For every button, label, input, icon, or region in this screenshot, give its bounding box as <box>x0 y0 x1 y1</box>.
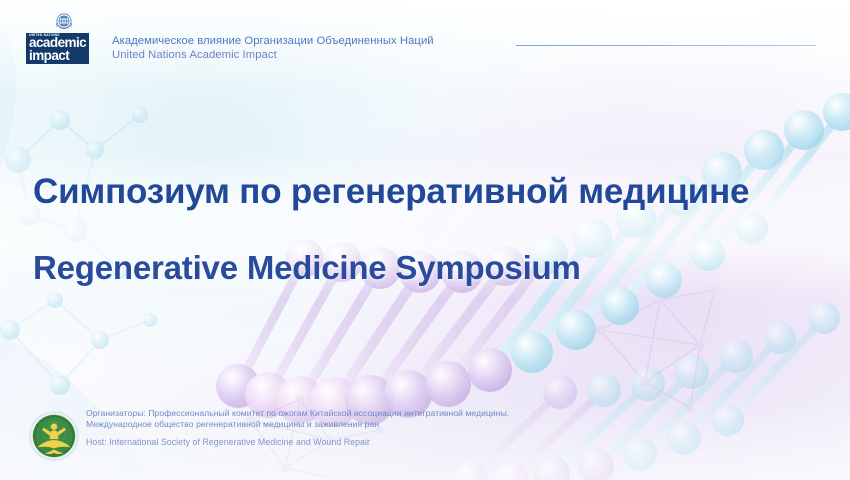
brand-header-text: Академическое влияние Организации Объеди… <box>106 8 434 62</box>
brand-title-ru: Академическое влияние Организации Объеди… <box>112 34 434 48</box>
brand-header: UNITED NATIONS academic impact Академиче… <box>26 8 826 78</box>
slide-title-ru: Симпозиум по регенеративной медицине <box>33 172 823 212</box>
academic-impact-logo: UNITED NATIONS academic impact <box>26 33 89 64</box>
footer-text-block: Организаторы: Профессиональный комитет п… <box>86 408 509 448</box>
slide-title-en: Regenerative Medicine Symposium <box>33 249 823 287</box>
footer-organizers-line2: Международное общество регенеративной ме… <box>86 419 509 430</box>
footer-organizers-line1: Организаторы: Профессиональный комитет п… <box>86 408 509 419</box>
logo-word-impact: impact <box>29 50 86 62</box>
slide-footer: Организаторы: Профессиональный комитет п… <box>28 404 828 466</box>
organization-seal-emblem <box>28 410 80 462</box>
header-divider-rule <box>516 45 816 46</box>
footer-host-line: Host: International Society of Regenerat… <box>86 437 509 448</box>
brand-title-en: United Nations Academic Impact <box>112 48 434 62</box>
presentation-slide: UNITED NATIONS academic impact Академиче… <box>0 0 850 480</box>
logo-tiny-line: UNITED NATIONS <box>29 34 86 37</box>
un-emblem-icon <box>53 10 75 32</box>
